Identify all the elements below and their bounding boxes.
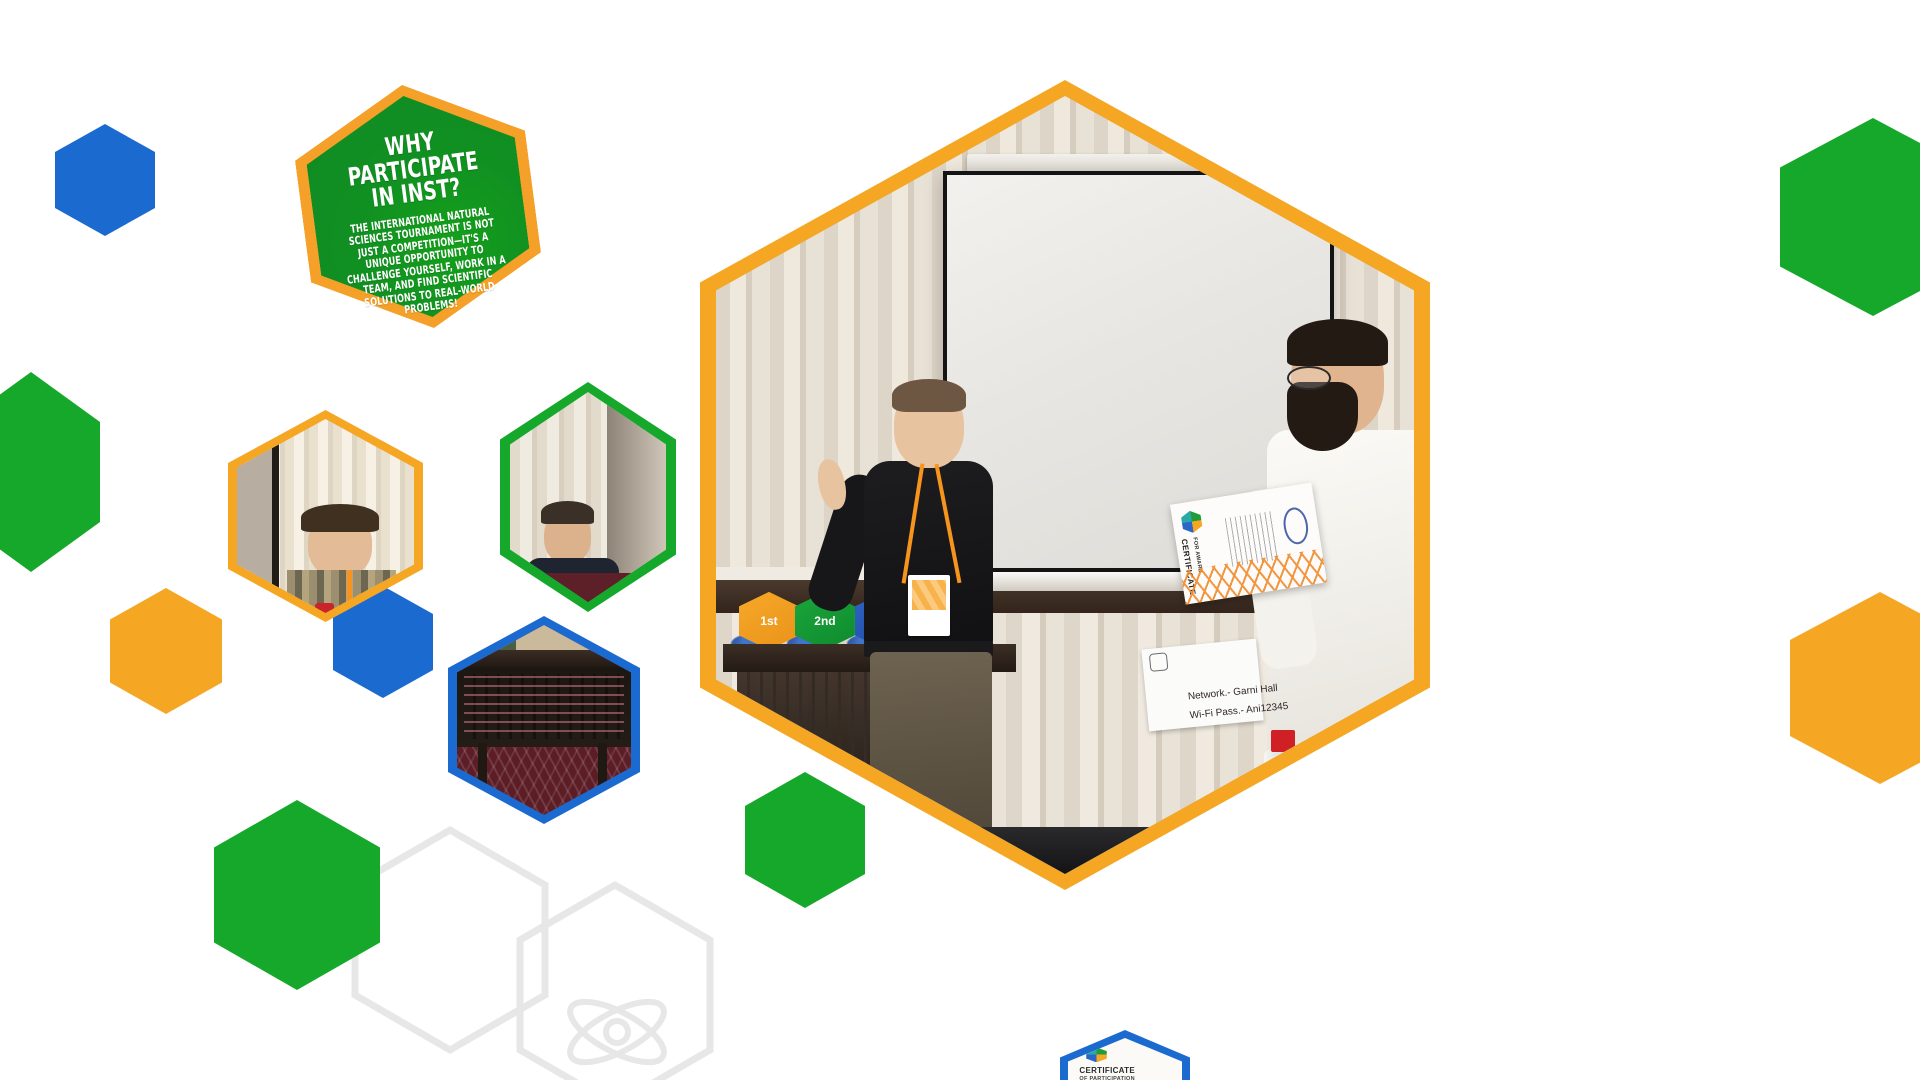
presenter-legs [870, 652, 992, 848]
photo-top-wall [457, 625, 631, 652]
decor-hex-green-bottom-2 [214, 800, 380, 990]
main-presentation-photo[interactable]: 1st 2nd 3rd [700, 80, 1430, 890]
main-photo-image: 1st 2nd 3rd [716, 96, 1414, 874]
atom-icon [562, 990, 673, 1074]
photo-tile-table-equipment[interactable] [448, 616, 640, 824]
photo-person-hair [301, 504, 379, 531]
photo-tile-participant-plaid[interactable] [228, 410, 423, 622]
why-participate-body-text: THE INTERNATIONAL NATURAL SCIENCES TOURN… [338, 204, 513, 325]
photo-grill-pattern [464, 674, 624, 739]
decor-hex-orange-right [1790, 592, 1920, 784]
photo-door-edge [272, 419, 279, 613]
photo-carpet [510, 573, 666, 602]
decor-hex-green-left [0, 372, 100, 572]
attendee-glasses-icon [1287, 366, 1331, 390]
award-certificate-logo-icon [1180, 509, 1203, 534]
attendee-figure [1260, 329, 1414, 858]
presentation-scene: 1st 2nd 3rd [716, 96, 1414, 874]
certificate-participation-title: CERTIFICATE [1079, 1066, 1135, 1075]
scene-drinking-glass [1207, 800, 1239, 874]
attendee-hair [1287, 319, 1388, 367]
watermark-hex-outlines [330, 800, 750, 1080]
why-participate-card: WHY PARTICIPATE IN INST? THE INTERNATION… [287, 70, 549, 343]
certificate-participation-subtitle: OF PARTICIPATION [1079, 1076, 1135, 1080]
hexagon-outline-watermark [330, 800, 750, 1080]
certificate-participation-image: CERTIFICATE OF PARTICIPATION [1068, 1038, 1182, 1080]
photo-tile-participant-dark[interactable] [500, 382, 676, 612]
page-canvas: WHY PARTICIPATE IN INST? THE INTERNATION… [0, 0, 1920, 1080]
decor-hex-orange-left [110, 588, 222, 714]
wifi-password-label: Wi-Fi Pass.- Ani12345 [1189, 703, 1229, 726]
router-icon [1149, 653, 1169, 673]
photo-person2-hair [541, 501, 594, 524]
attendee-beard [1287, 382, 1357, 451]
award-place-1st: 1st [760, 614, 777, 628]
presenter-hair [892, 379, 965, 412]
presenter-badge-pattern [912, 580, 946, 610]
wifi-info-sign: Network.- Garni Hall Wi-Fi Pass.- Ani123… [1142, 639, 1264, 731]
photo-person-lanyard [347, 570, 352, 601]
decor-hex-green-right [1780, 118, 1920, 316]
certificate-of-participation[interactable]: CERTIFICATE OF PARTICIPATION [1060, 1030, 1190, 1080]
award-certificate-seal-icon [1281, 506, 1311, 546]
presenter-figure [842, 384, 1017, 851]
award-place-2nd: 2nd [814, 614, 835, 628]
decor-hex-blue-top-left [55, 124, 155, 236]
presenter-badge [908, 575, 950, 636]
